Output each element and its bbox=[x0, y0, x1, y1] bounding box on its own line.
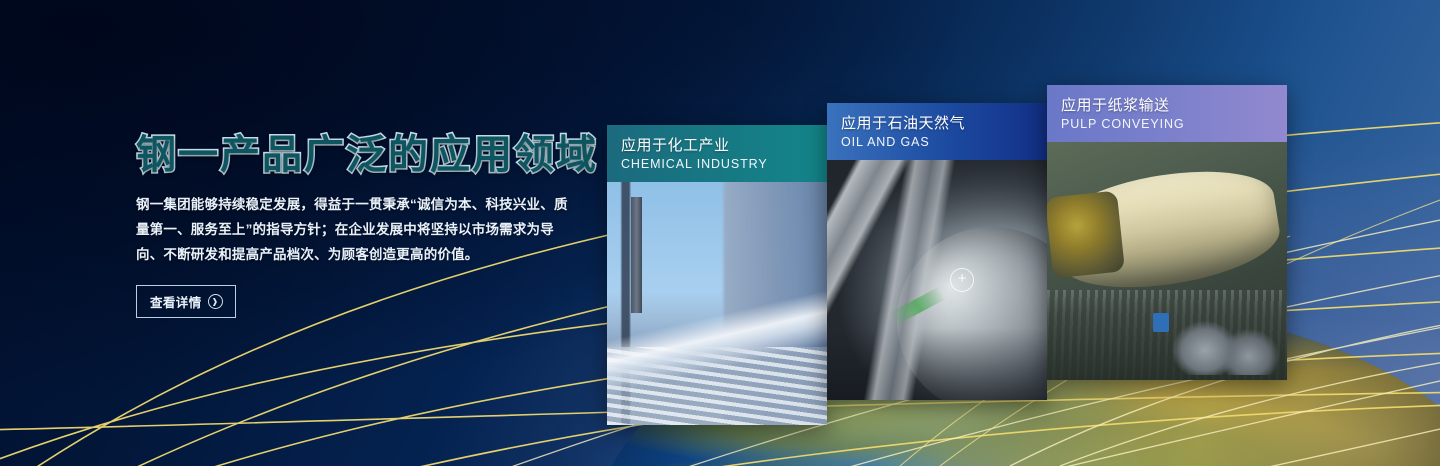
card-chemical-header: 应用于化工产业 CHEMICAL INDUSTRY bbox=[607, 125, 827, 182]
card-oilgas-header: 应用于石油天然气 OIL AND GAS bbox=[827, 103, 1047, 160]
card-chemical-title-en: CHEMICAL INDUSTRY bbox=[621, 156, 827, 173]
photo-smokestack bbox=[631, 197, 642, 314]
view-details-label: 查看详情 bbox=[150, 292, 202, 311]
card-oilgas-photo: + bbox=[827, 160, 1047, 400]
card-chemical-photo bbox=[607, 182, 827, 425]
card-pulp-conveying[interactable]: 应用于纸浆输送 PULP CONVEYING bbox=[1047, 85, 1287, 380]
application-fields-banner: 钢一产品广泛的应用领域 钢一集团能够持续稳定发展，得益于一贯秉承“诚信为本、科技… bbox=[0, 0, 1440, 466]
chevron-right-circle-icon: ❱ bbox=[208, 294, 223, 309]
plus-icon[interactable]: + bbox=[950, 268, 974, 292]
banner-copy: 钢一产品广泛的应用领域 钢一集团能够持续稳定发展，得益于一贯秉承“诚信为本、科技… bbox=[136, 132, 606, 318]
card-pulp-header: 应用于纸浆输送 PULP CONVEYING bbox=[1047, 85, 1287, 142]
photo-blue-valve bbox=[1153, 313, 1170, 332]
photo-lower-pipes bbox=[1172, 313, 1282, 375]
page-title: 钢一产品广泛的应用领域 bbox=[136, 132, 606, 178]
card-chemical-title-cn: 应用于化工产业 bbox=[621, 135, 827, 156]
card-pulp-photo bbox=[1047, 142, 1287, 380]
photo-roller-hub bbox=[1047, 191, 1125, 279]
card-oilgas-title-cn: 应用于石油天然气 bbox=[841, 113, 1047, 134]
card-pulp-title-en: PULP CONVEYING bbox=[1061, 116, 1287, 133]
card-chemical-industry[interactable]: 应用于化工产业 CHEMICAL INDUSTRY bbox=[607, 125, 827, 425]
card-oilgas-title-en: OIL AND GAS bbox=[841, 134, 1047, 151]
view-details-button[interactable]: 查看详情 ❱ bbox=[136, 285, 236, 318]
card-oil-and-gas[interactable]: 应用于石油天然气 OIL AND GAS + bbox=[827, 103, 1047, 400]
photo-pipework-layer bbox=[827, 160, 1047, 400]
card-pulp-title-cn: 应用于纸浆输送 bbox=[1061, 95, 1287, 116]
banner-description: 钢一集团能够持续稳定发展，得益于一贯秉承“诚信为本、科技兴业、质量第一、服务至上… bbox=[136, 192, 580, 267]
